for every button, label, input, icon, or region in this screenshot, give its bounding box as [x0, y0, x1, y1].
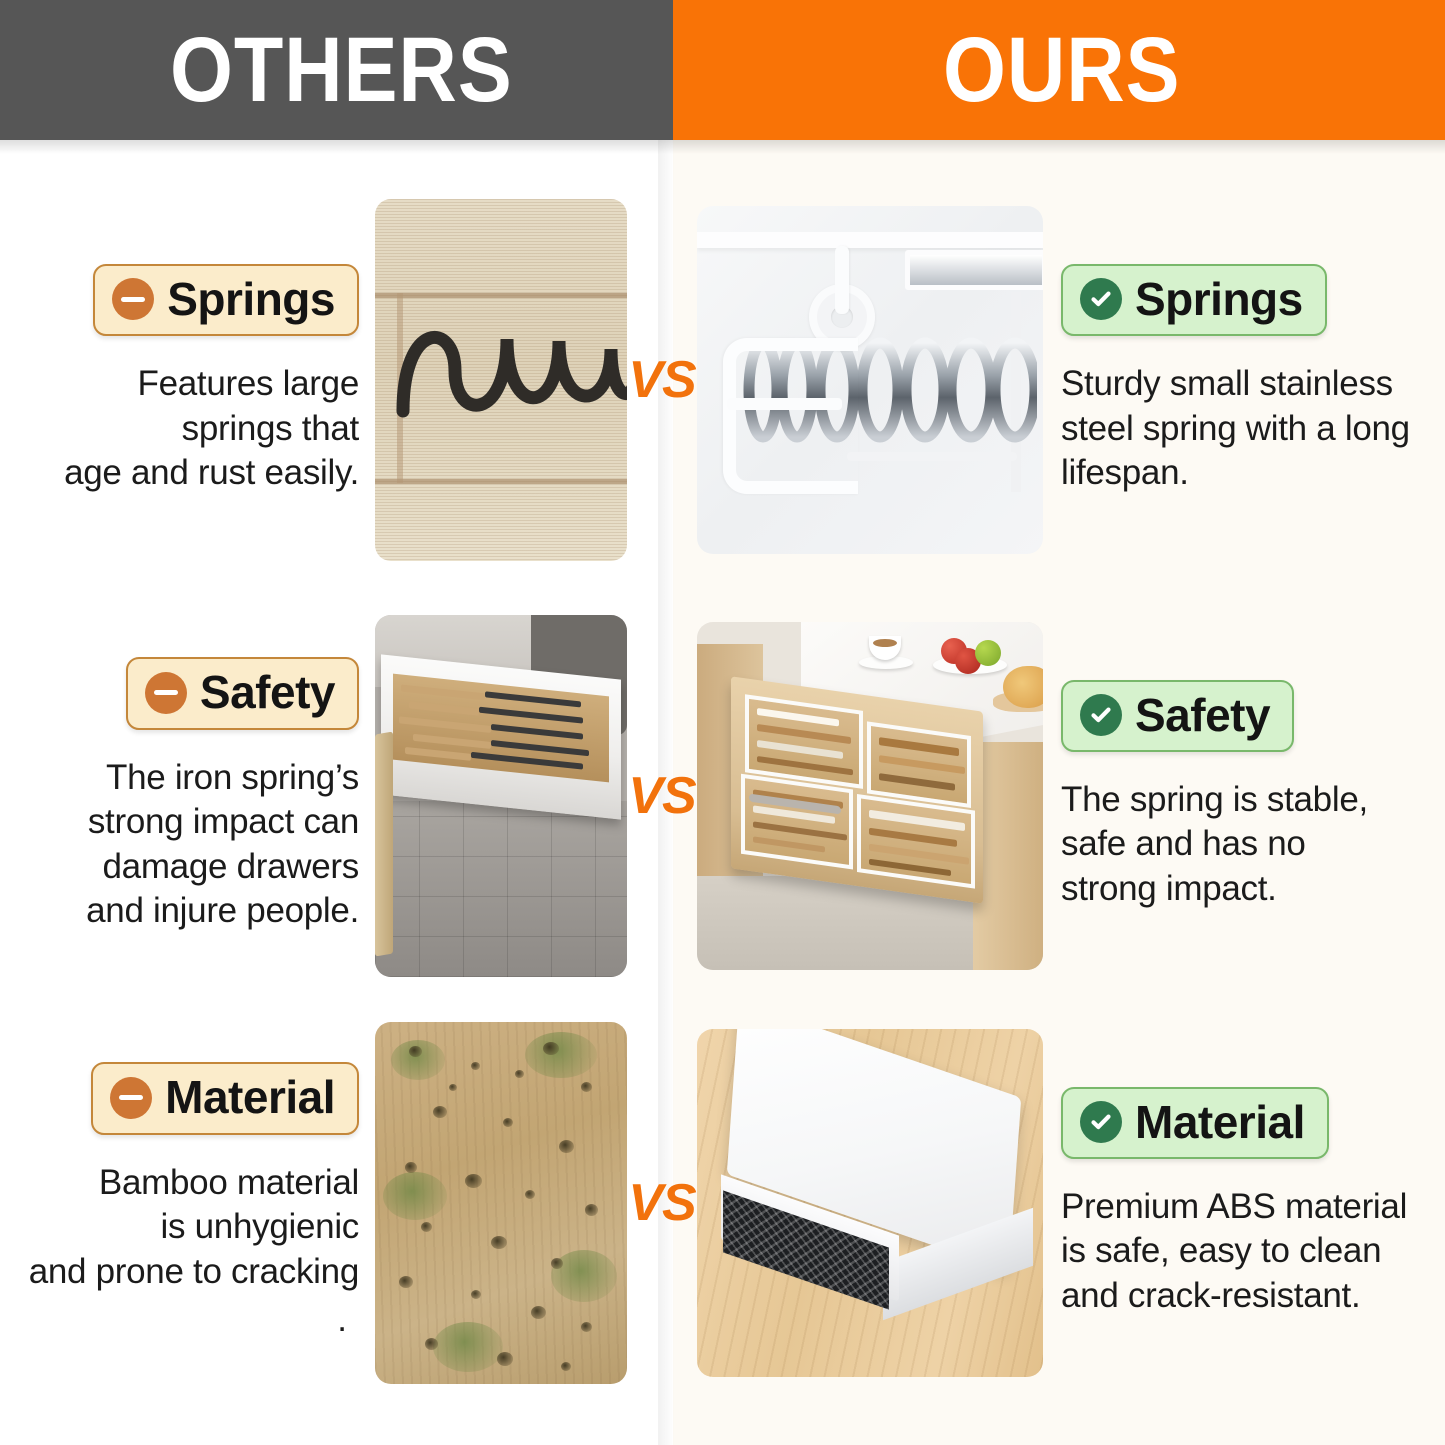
ours-text-springs: Springs Sturdy small stainless steel spr…: [1043, 264, 1438, 496]
others-text-safety: Safety The iron spring’s strong impact c…: [0, 657, 375, 933]
desc-line: and injure people.: [86, 889, 359, 933]
check-circle-icon: [1080, 1101, 1122, 1143]
others-image-material: [375, 1022, 627, 1384]
desc-line: and crack-resistant.: [1061, 1274, 1407, 1318]
others-description-material: Bamboo material is unhygienic and prone …: [29, 1161, 359, 1294]
others-description-springs: Features large springs that age and rust…: [64, 362, 359, 495]
badge-label: Springs: [167, 275, 335, 323]
minus-circle-icon: [110, 1077, 152, 1119]
ours-text-safety: Safety The spring is stable, safe and ha…: [1043, 680, 1438, 912]
desc-line: safe and has no: [1061, 822, 1368, 866]
others-badge-springs: Springs: [93, 264, 359, 336]
header-ours: OURS: [673, 0, 1445, 140]
badge-label: Material: [1135, 1098, 1305, 1146]
desc-line: is unhygienic: [29, 1205, 359, 1249]
large-black-spring-shape: [375, 199, 627, 561]
others-description-safety: The iron spring’s strong impact can dama…: [86, 756, 359, 934]
header-ours-title: OURS: [943, 24, 1180, 116]
badge-label: Safety: [200, 668, 335, 716]
ours-badge-material: Material: [1061, 1087, 1329, 1159]
others-image-springs: [375, 199, 627, 561]
badge-label: Springs: [1135, 275, 1303, 323]
ours-description-safety: The spring is stable, safe and has no st…: [1061, 778, 1368, 911]
desc-line: The iron spring’s: [86, 756, 359, 800]
desc-line: Premium ABS material: [1061, 1185, 1407, 1229]
others-text-material: Material Bamboo material is unhygienic a…: [0, 1062, 375, 1342]
badge-label: Safety: [1135, 691, 1270, 739]
desc-line: Features large: [64, 362, 359, 406]
header-bar: OTHERS OURS: [0, 0, 1445, 140]
desc-line: The spring is stable,: [1061, 778, 1368, 822]
comparison-row-springs: Springs Features large springs that age …: [0, 185, 1445, 575]
others-badge-safety: Safety: [126, 657, 359, 729]
check-circle-icon: [1080, 694, 1122, 736]
desc-line: is safe, easy to clean: [1061, 1229, 1407, 1273]
vs-separator-springs: VS: [627, 350, 697, 410]
vs-separator-material: VS: [627, 1173, 697, 1233]
minus-circle-icon: [145, 672, 187, 714]
desc-line: strong impact can: [86, 800, 359, 844]
desc-line: springs that: [64, 407, 359, 451]
ours-text-material: Material Premium ABS material is safe, e…: [1043, 1087, 1438, 1319]
desc-line: lifespan.: [1061, 451, 1410, 495]
ours-description-material: Premium ABS material is safe, easy to cl…: [1061, 1185, 1407, 1318]
comparison-row-material: Material Bamboo material is unhygienic a…: [0, 1015, 1445, 1390]
ours-image-material: [697, 1029, 1043, 1377]
comparison-infographic: OTHERS OURS Springs Features large sprin…: [0, 0, 1445, 1445]
others-badge-material: Material: [91, 1062, 359, 1134]
desc-line: damage drawers: [86, 845, 359, 889]
ours-badge-springs: Springs: [1061, 264, 1327, 336]
desc-line: and prone to cracking: [29, 1250, 359, 1294]
check-circle-icon: [1080, 278, 1122, 320]
ours-badge-safety: Safety: [1061, 680, 1294, 752]
others-image-safety: [375, 615, 627, 977]
desc-line: age and rust easily.: [64, 451, 359, 495]
desc-line: Sturdy small stainless: [1061, 362, 1410, 406]
trailing-period: .: [337, 1298, 347, 1342]
ours-image-springs: [697, 206, 1043, 554]
comparison-row-safety: Safety The iron spring’s strong impact c…: [0, 608, 1445, 983]
desc-line: steel spring with a long: [1061, 407, 1410, 451]
desc-line: strong impact.: [1061, 867, 1368, 911]
header-others-title: OTHERS: [170, 24, 513, 116]
desc-line: Bamboo material: [29, 1161, 359, 1205]
others-text-springs: Springs Features large springs that age …: [0, 264, 375, 496]
minus-circle-icon: [112, 278, 154, 320]
vs-separator-safety: VS: [627, 766, 697, 826]
ours-description-springs: Sturdy small stainless steel spring with…: [1061, 362, 1410, 495]
header-others: OTHERS: [0, 0, 673, 140]
badge-label: Material: [165, 1073, 335, 1121]
ours-image-safety: [697, 622, 1043, 970]
